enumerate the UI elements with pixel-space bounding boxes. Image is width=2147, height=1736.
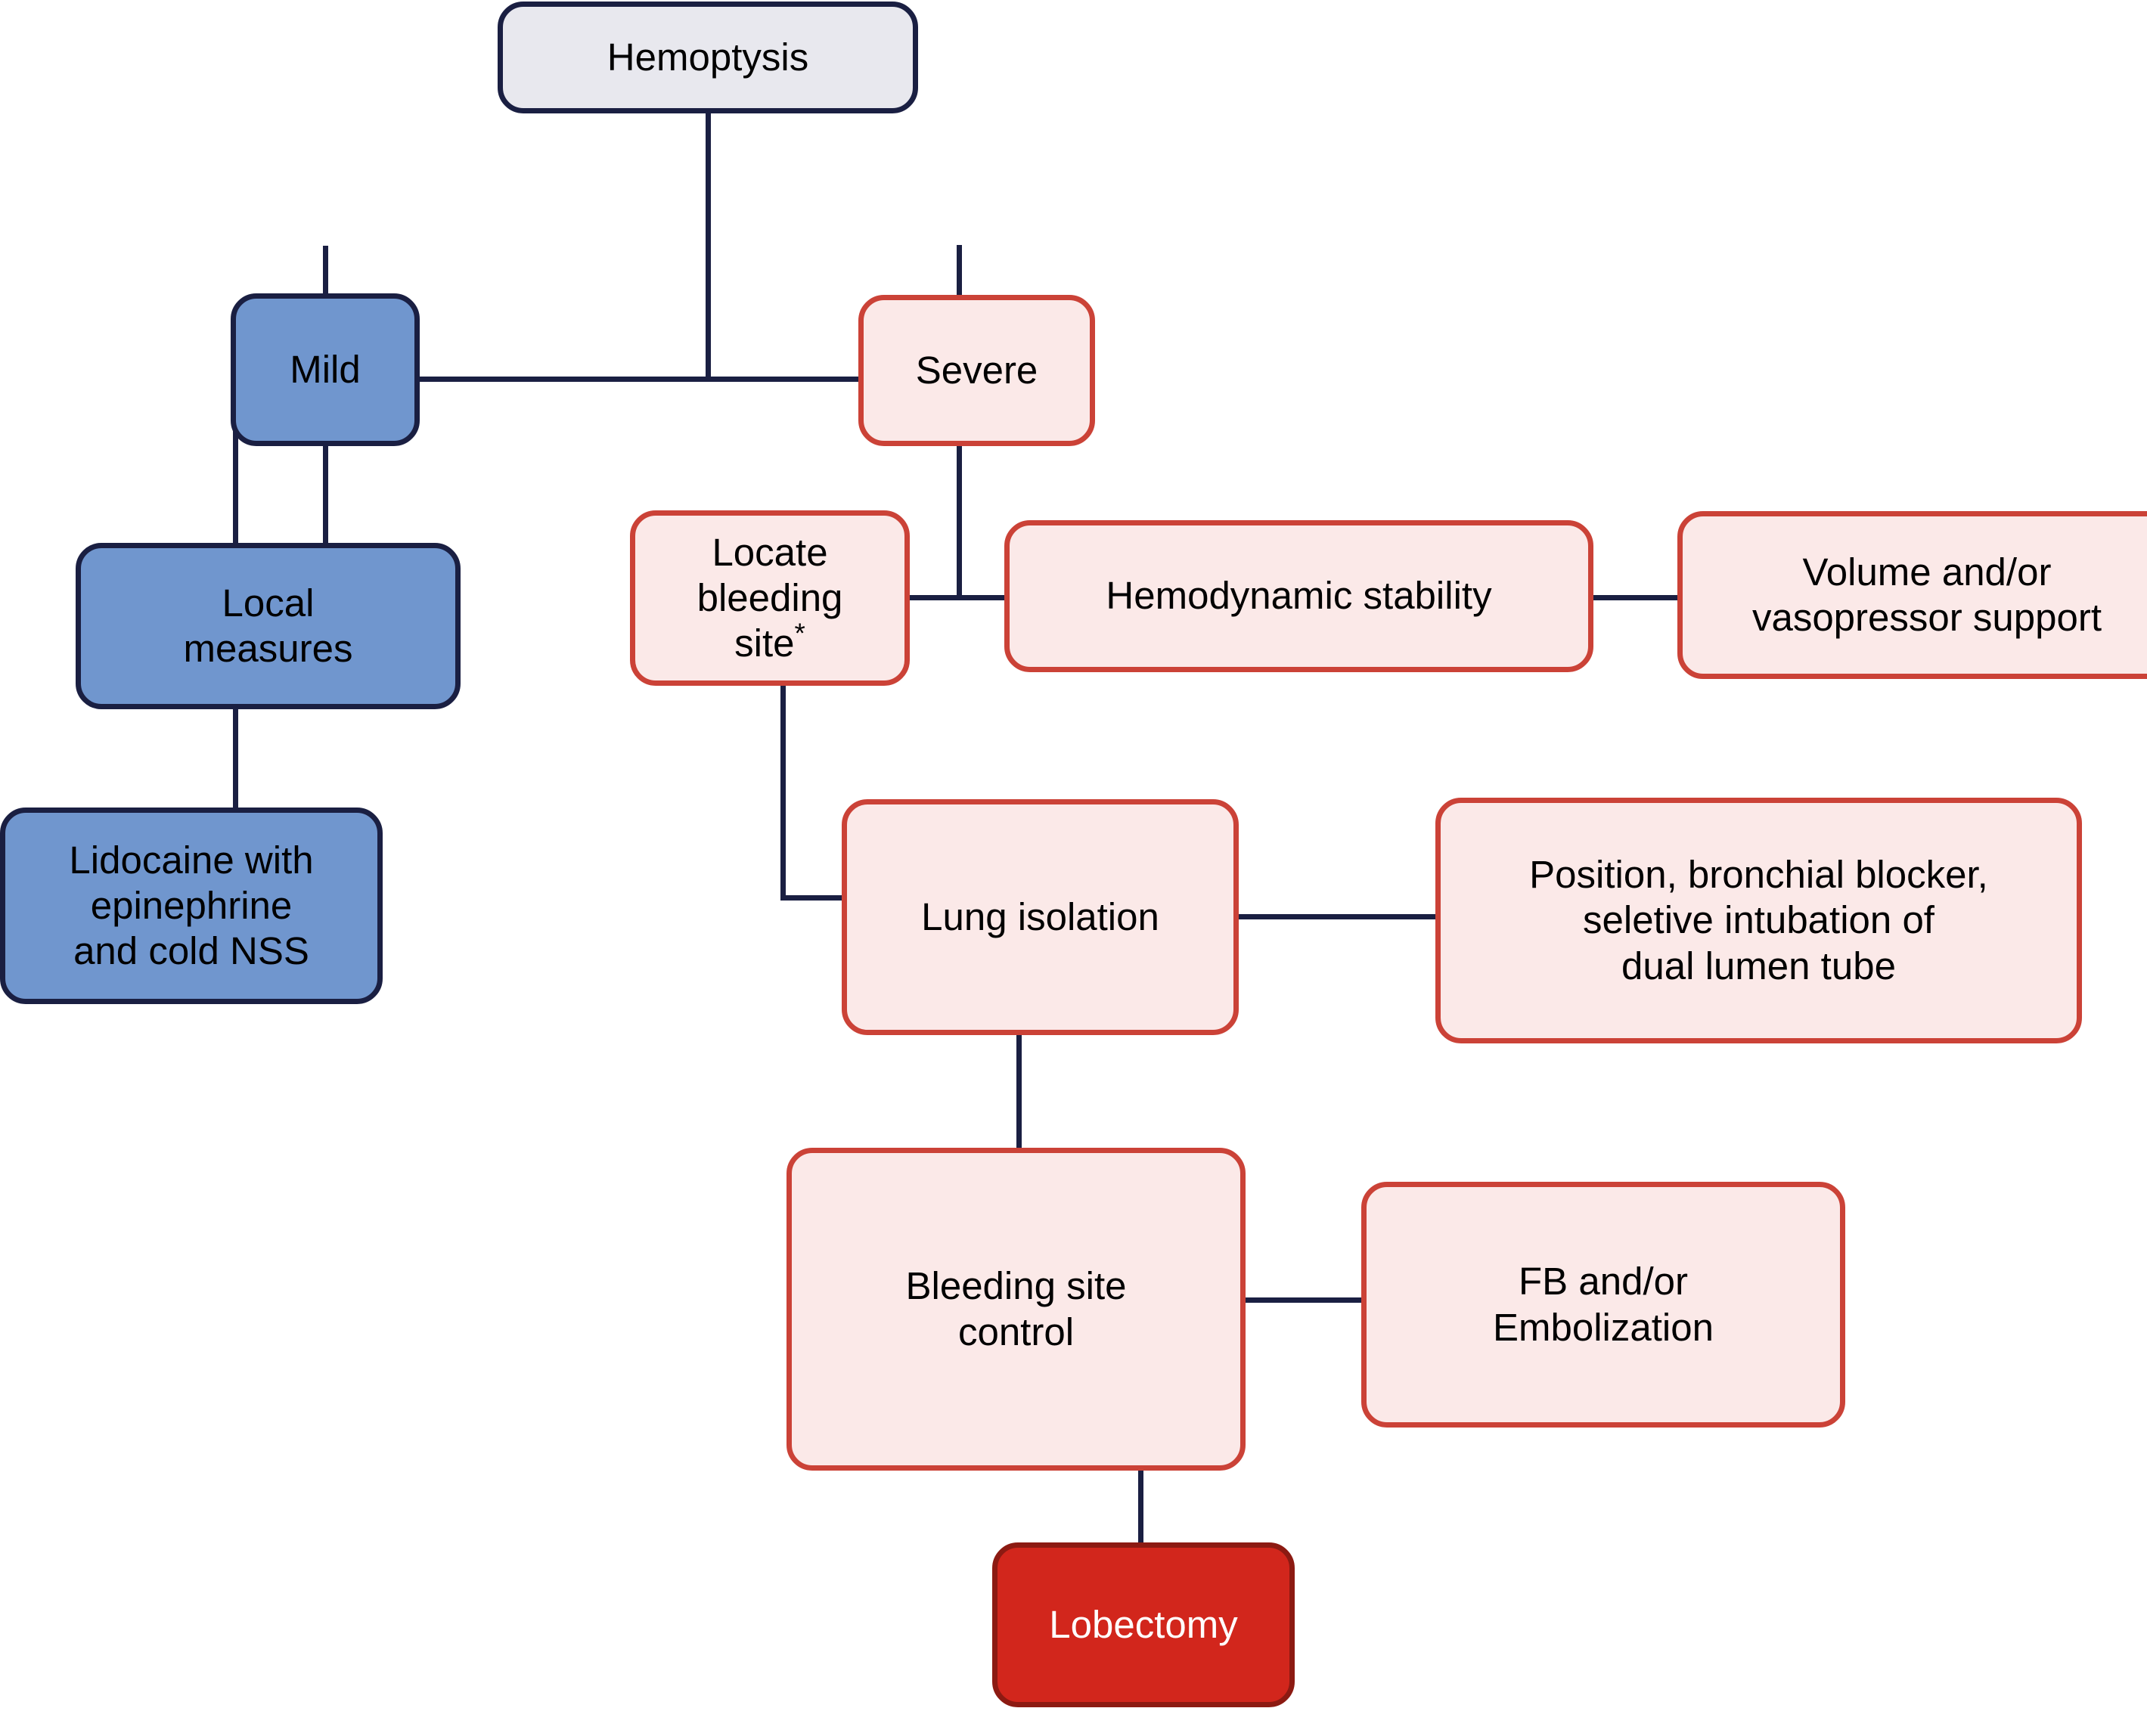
node-mild-label: Mild (282, 347, 368, 392)
node-hemoptysis[interactable]: Hemoptysis (498, 2, 918, 113)
node-fb-embolization[interactable]: FB and/or Embolization (1361, 1182, 1845, 1428)
node-mild[interactable]: Mild (231, 293, 420, 446)
connector-hemodynamic-to-volume (1590, 595, 1680, 600)
node-fb-embolization-label: FB and/or Embolization (1485, 1259, 1721, 1350)
node-lung-isolation[interactable]: Lung isolation (842, 799, 1239, 1035)
node-hemodynamic-stability-label: Hemodynamic stability (1098, 573, 1499, 618)
connector-locate-to-lung-isolation-vertical (780, 683, 786, 901)
node-lidocaine[interactable]: Lidocaine with epinephrine and cold NSS (0, 808, 383, 1004)
node-locate-bleeding-site[interactable]: Locate bleeding site* (630, 510, 910, 686)
node-position-bronchial-blocker-label: Position, bronchial blocker, seletive in… (1522, 852, 1996, 989)
connector-bleeding-control-to-fb (1240, 1297, 1365, 1303)
node-local-measures[interactable]: Local measures (76, 543, 461, 709)
connector-lung-isolation-to-position (1235, 914, 1439, 919)
node-local-measures-label: Local measures (176, 581, 361, 671)
node-hemoptysis-label: Hemoptysis (600, 35, 816, 80)
footnote-asterisk: * (795, 618, 805, 649)
node-bleeding-site-control-label: Bleeding site control (898, 1263, 1134, 1354)
node-locate-bleeding-site-text: Locate bleeding site (697, 531, 843, 665)
node-volume-vasopressor-label: Volume and/or vasopressor support (1745, 550, 2109, 640)
connector-bleeding-control-to-lobectomy (1138, 1467, 1143, 1546)
connector-locate-to-lung-isolation-horizontal (780, 895, 845, 901)
flowchart-canvas: Hemoptysis Mild Severe Local measures Li… (0, 0, 2147, 1736)
node-lung-isolation-label: Lung isolation (914, 894, 1167, 940)
node-severe[interactable]: Severe (858, 295, 1095, 446)
node-lobectomy[interactable]: Lobectomy (992, 1542, 1295, 1707)
connector-hemoptysis-to-branch (706, 113, 711, 380)
node-position-bronchial-blocker[interactable]: Position, bronchial blocker, seletive in… (1435, 798, 2082, 1043)
node-bleeding-site-control[interactable]: Bleeding site control (787, 1148, 1246, 1471)
node-volume-vasopressor[interactable]: Volume and/or vasopressor support (1677, 511, 2147, 679)
node-severe-label: Severe (908, 348, 1046, 393)
node-hemodynamic-stability[interactable]: Hemodynamic stability (1004, 520, 1593, 672)
node-lidocaine-label: Lidocaine with epinephrine and cold NSS (61, 838, 321, 975)
connector-lung-isolation-to-bleeding-control (1016, 1034, 1022, 1150)
node-locate-bleeding-site-label: Locate bleeding site* (690, 530, 851, 667)
node-lobectomy-label: Lobectomy (1041, 1602, 1245, 1648)
